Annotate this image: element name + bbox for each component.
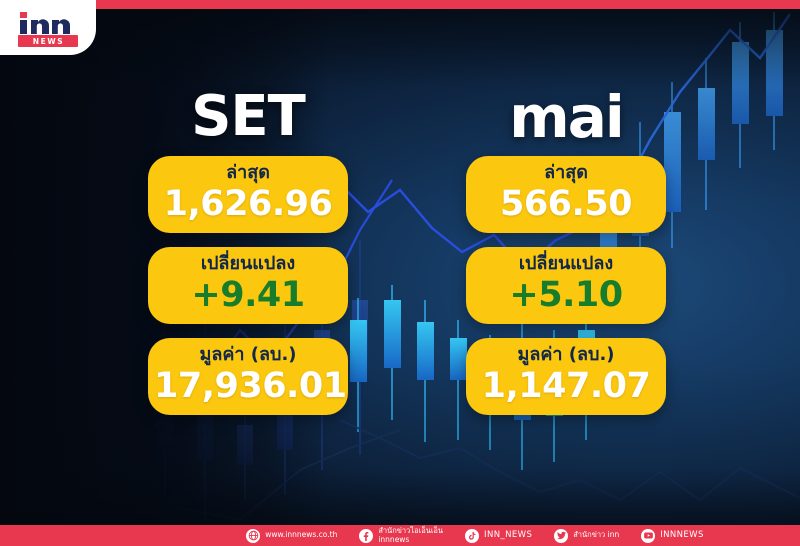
footer-label: INN_NEWS: [484, 531, 532, 540]
footer-label: สำนักข่าวไอเอ็นเอ็น innnews: [378, 527, 443, 544]
tiktok-icon: [465, 529, 479, 543]
logo-news-badge: NEWS: [18, 35, 78, 47]
index-column-set: SET ล่าสุด 1,626.96 เปลี่ยนแปลง +9.41 มู…: [148, 88, 348, 429]
footer-label-line2: innnews: [378, 536, 443, 545]
footer-label: INNNEWS: [660, 531, 704, 540]
globe-icon: [246, 529, 260, 543]
poster-canvas: NEWS SET ล่าสุด 1,626.96 เปลี่ยนแปลง +9.…: [0, 0, 800, 546]
youtube-icon: [641, 529, 655, 543]
background-vignette: [0, 0, 800, 546]
facebook-icon: [359, 529, 373, 543]
stat-label: เปลี่ยนแปลง: [154, 253, 342, 275]
stat-value: 17,936.01: [154, 366, 342, 406]
index-column-mai: mai ล่าสุด 566.50 เปลี่ยนแปลง +5.10 มูลค…: [466, 88, 666, 429]
footer-item-tiktok[interactable]: INN_NEWS: [465, 529, 532, 543]
footer-label: สำนักข่าว inn: [573, 531, 619, 540]
inn-news-logo: NEWS: [0, 0, 96, 55]
stat-value: 1,147.07: [472, 366, 660, 406]
stat-card-set-value: มูลค่า (ลบ.) 17,936.01: [148, 338, 348, 415]
stat-card-mai-change: เปลี่ยนแปลง +5.10: [466, 247, 666, 324]
footer-item-youtube[interactable]: INNNEWS: [641, 529, 704, 543]
stat-label: มูลค่า (ลบ.): [154, 344, 342, 366]
footer-social-bar: www.innnews.co.th สำนักข่าวไอเอ็นเอ็น in…: [0, 525, 800, 546]
stat-card-set-last: ล่าสุด 1,626.96: [148, 156, 348, 233]
stat-value: +9.41: [154, 275, 342, 315]
stat-card-mai-value: มูลค่า (ลบ.) 1,147.07: [466, 338, 666, 415]
footer-label: www.innnews.co.th: [265, 531, 337, 540]
top-red-strip: [0, 0, 800, 9]
stat-value: 1,626.96: [154, 184, 342, 224]
stat-label: เปลี่ยนแปลง: [472, 253, 660, 275]
stat-card-mai-last: ล่าสุด 566.50: [466, 156, 666, 233]
footer-item-facebook[interactable]: สำนักข่าวไอเอ็นเอ็น innnews: [359, 527, 443, 544]
stat-value: 566.50: [472, 184, 660, 224]
stat-label: มูลค่า (ลบ.): [472, 344, 660, 366]
inn-wordmark-icon: [18, 12, 78, 34]
twitter-icon: [554, 529, 568, 543]
footer-item-twitter[interactable]: สำนักข่าว inn: [554, 529, 619, 543]
stat-card-set-change: เปลี่ยนแปลง +9.41: [148, 247, 348, 324]
footer-label-line1: สำนักข่าวไอเอ็นเอ็น: [378, 526, 443, 535]
stat-label: ล่าสุด: [472, 162, 660, 184]
stat-value: +5.10: [472, 275, 660, 315]
index-title-mai: mai: [466, 88, 666, 146]
index-title-set: SET: [148, 88, 348, 146]
stat-label: ล่าสุด: [154, 162, 342, 184]
footer-item-website[interactable]: www.innnews.co.th: [246, 529, 337, 543]
